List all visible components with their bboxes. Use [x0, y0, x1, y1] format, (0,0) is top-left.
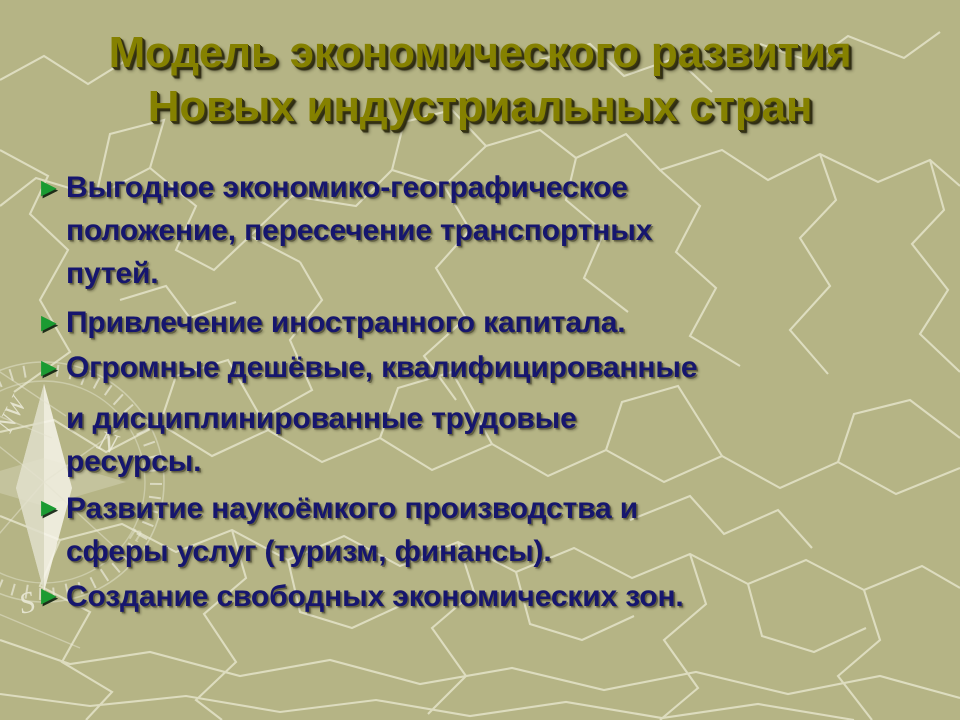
list-item-text: Привлечение иностранного капитала.: [66, 301, 932, 344]
triangle-bullet-icon: ►: [32, 166, 66, 209]
list-item-text: Развитие наукоёмкого производства и сфер…: [66, 487, 932, 573]
list-item-text: Создание свободных экономических зон.: [66, 575, 932, 618]
list-item-line: ресурсы.: [66, 440, 932, 483]
list-item-text: Выгодное экономико-географическое положе…: [66, 166, 932, 295]
list-item-line: Выгодное экономико-географическое: [66, 166, 932, 209]
list-item-line: и дисциплинированные трудовые: [66, 397, 932, 440]
list-item-line: сферы услуг (туризм, финансы).: [66, 530, 932, 573]
list-item-line: Огромные дешёвые, квалифицированные: [66, 346, 932, 389]
list-item-line: положение, пересечение транспортных: [66, 209, 932, 252]
presentation-slide: N NW S n Модель экономического развития …: [0, 0, 960, 720]
bullet-list: ► Выгодное экономико-географическое поло…: [32, 166, 932, 618]
list-item: ► Привлечение иностранного капитала.: [32, 301, 932, 344]
triangle-bullet-icon: ►: [32, 575, 66, 615]
list-item-line: путей.: [66, 252, 932, 295]
slide-title: Модель экономического развития Новых инд…: [0, 26, 960, 133]
list-item: ► Огромные дешёвые, квалифицированные и …: [32, 346, 932, 483]
list-item-line: Привлечение иностранного капитала.: [66, 301, 932, 344]
compass-label-nw: NW: [0, 391, 33, 438]
list-item: ► Развитие наукоёмкого производства и сф…: [32, 487, 932, 573]
list-item: ► Создание свободных экономических зон.: [32, 575, 932, 618]
triangle-bullet-icon: ►: [32, 346, 66, 389]
triangle-bullet-icon: ►: [32, 301, 66, 344]
list-item-text: Огромные дешёвые, квалифицированные и ди…: [66, 346, 932, 483]
list-item-line: Развитие наукоёмкого производства и: [66, 487, 932, 530]
triangle-bullet-icon: ►: [32, 487, 66, 527]
title-line-2: Новых индустриальных стран: [0, 80, 960, 134]
list-item-line: Создание свободных экономических зон.: [66, 575, 932, 618]
list-item: ► Выгодное экономико-географическое поло…: [32, 166, 932, 295]
title-line-1: Модель экономического развития: [0, 26, 960, 80]
